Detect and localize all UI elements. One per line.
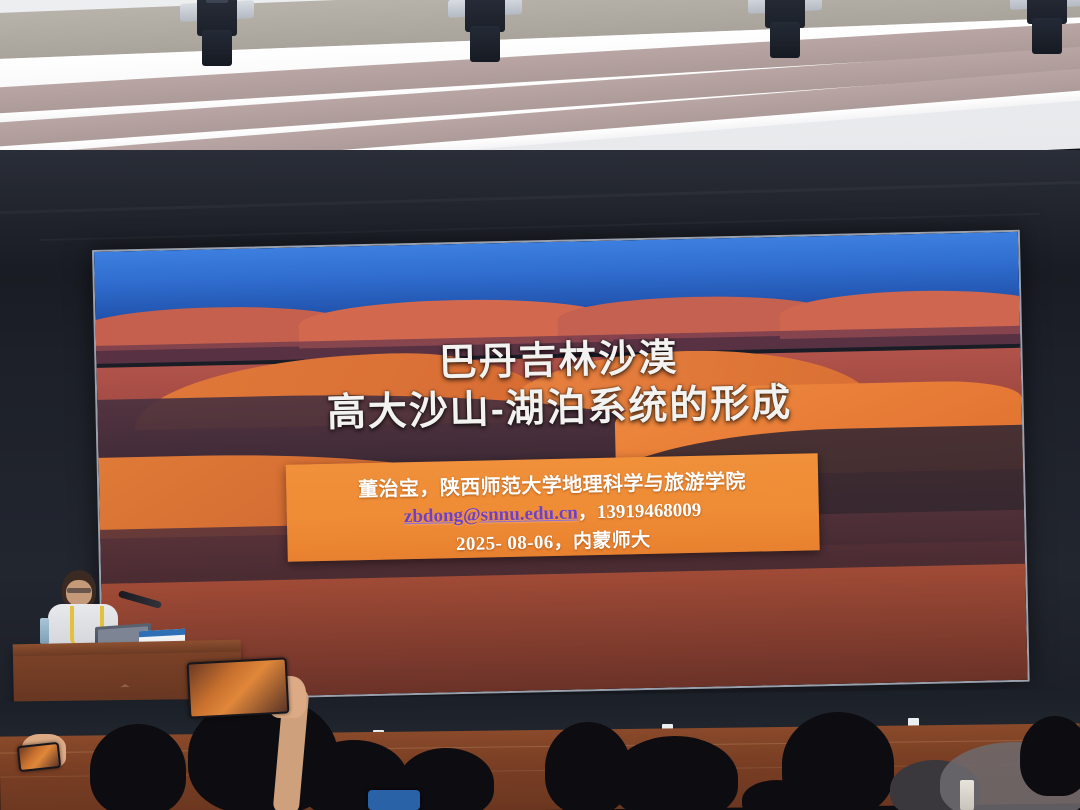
audience-phone[interactable]	[187, 657, 290, 718]
screen-content: 巴丹吉林沙漠 高大沙山-湖泊系统的形成 董治宝，陕西师范大学地理科学与旅游学院 …	[94, 232, 1028, 700]
audience-head-6	[612, 736, 738, 810]
email-link[interactable]: zbdong@snnu.edu.cn	[404, 502, 578, 527]
stage-light-2	[448, 0, 522, 54]
speaker-face	[66, 580, 92, 606]
water-bottle	[40, 618, 49, 644]
audience-head-10	[1020, 716, 1080, 796]
phone-number: 13919468009	[597, 500, 702, 523]
audience-device-3[interactable]	[368, 790, 420, 810]
slide-info-box: 董治宝，陕西师范大学地理科学与旅游学院 zbdong@snnu.edu.cn，1…	[285, 453, 819, 561]
photo-scene: 巴丹吉林沙漠 高大沙山-湖泊系统的形成 董治宝，陕西师范大学地理科学与旅游学院 …	[0, 0, 1080, 810]
phone-screen-2	[19, 744, 59, 770]
stage-light-3	[748, 0, 822, 50]
email-separator: ，	[578, 502, 597, 523]
led-presentation-screen[interactable]: 巴丹吉林沙漠 高大沙山-湖泊系统的形成 董治宝，陕西师范大学地理科学与旅游学院 …	[92, 230, 1030, 702]
speaker-glasses	[67, 588, 91, 593]
phone-screen	[189, 660, 288, 717]
audience-bottle	[960, 780, 974, 810]
audience-phone-2[interactable]	[17, 742, 61, 772]
stage-light-1	[180, 0, 254, 58]
audience-head-1	[90, 724, 186, 810]
stage-light-4	[1010, 0, 1080, 46]
